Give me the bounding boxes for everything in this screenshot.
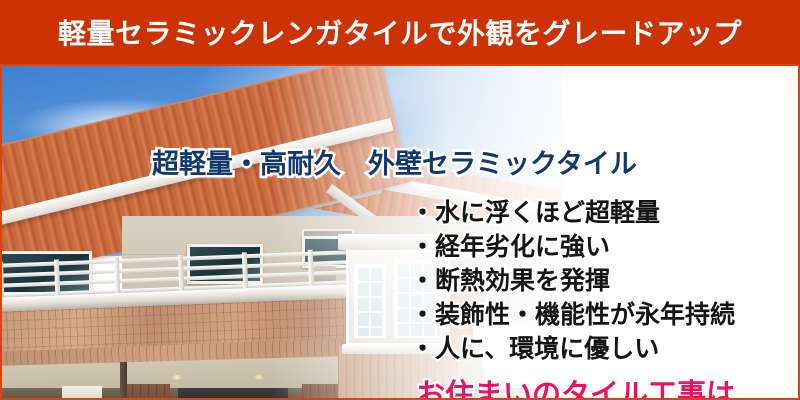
hero-photo-panel: 超軽量・高耐久 外壁セラミックタイル ・水に浮くほど超軽量 ・経年劣化に強い ・… xyxy=(0,64,800,400)
tagline-text: お住まいのタイル工事は xyxy=(416,371,735,400)
feature-item: ・装飾性・機能性が永年持続 xyxy=(410,299,735,331)
feature-item: ・断熱効果を発揮 xyxy=(410,265,735,297)
header-banner: 軽量セラミックレンガタイルで外観をグレードアップ xyxy=(0,0,800,64)
feature-item: ・経年劣化に強い xyxy=(410,231,735,263)
banner-headline: 軽量セラミックレンガタイルで外観をグレードアップ xyxy=(0,0,800,64)
feature-list: ・水に浮くほど超軽量 ・経年劣化に強い ・断熱効果を発揮 ・装飾性・機能性が永年… xyxy=(410,197,735,365)
feature-item: ・水に浮くほど超軽量 xyxy=(410,197,735,229)
feature-item: ・人に、環境に優しい xyxy=(410,333,735,365)
subtitle-headline: 超軽量・高耐久 外壁セラミックタイル xyxy=(152,142,637,181)
